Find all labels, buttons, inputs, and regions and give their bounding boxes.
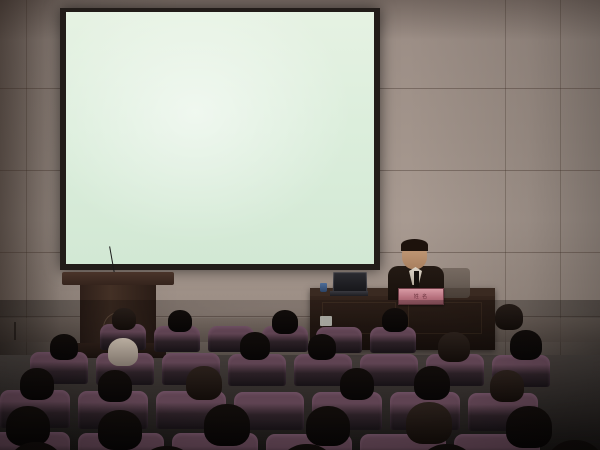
letter-line: 有何意见报告。 (86, 231, 172, 247)
seated-audience (0, 300, 600, 450)
nameplate-text: 姓 名 (414, 293, 428, 300)
bullet-dot-icon (232, 57, 237, 62)
letter-line: 部、教育部、中科院结合实际深入研究， (86, 213, 304, 229)
slide-bullet-text: 2007年三月，三位老科学家向温总理写信，温总理批示“自主创新、方法先行。” (241, 51, 362, 114)
lecture-hall-photo: 创新能力建设已成我国发展的当务之急 (0, 0, 600, 450)
slide-body: 2007年三月，三位老科学家向温总理写信，温总理批示“自主创新、方法先行。” 三… (71, 45, 369, 259)
letter-line: 创新方法是自主创新的根本之源。这一重要 (86, 177, 316, 193)
blue-cup (320, 283, 327, 292)
slide-title-bar: 创新能力建设已成我国发展的当务之急 (71, 17, 369, 41)
projection-screen: 创新能力建设已成我国发展的当务之急 (60, 8, 380, 270)
paper-sheet (320, 316, 332, 326)
handwritten-letter: 三位老科学家提出“自主创新，方法先行” 创新方法是自主创新的根本之源。这一重要 … (78, 151, 362, 252)
slide-bullet: 2007年三月，三位老科学家向温总理写信，温总理批示“自主创新、方法先行。” (232, 51, 362, 114)
office-chair (440, 268, 470, 298)
projected-slide: 创新能力建设已成我国发展的当务之急 (66, 12, 374, 264)
laptop-computer (330, 272, 368, 296)
slide-content: 创新能力建设已成我国发展的当务之急 (66, 12, 374, 264)
letter-signature: 温家宝 (296, 211, 341, 232)
letter-line: 观点应当高度重视。所提三点建议，请科技 (92, 195, 322, 211)
letter-line: 三位老科学家提出“自主创新，方法先行” (106, 159, 325, 175)
letter-date: 七月三日 (294, 231, 336, 246)
slide-title: 创新能力建设已成我国发展的当务之急 (118, 21, 322, 37)
slide-photo (78, 51, 226, 146)
